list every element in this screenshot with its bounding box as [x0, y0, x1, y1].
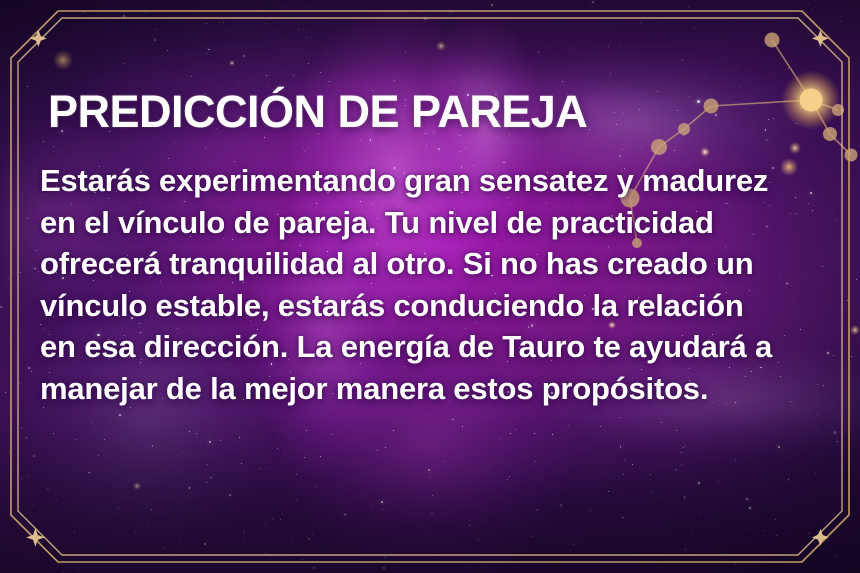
star-dot: [851, 356, 852, 357]
constellation-star: [832, 104, 844, 116]
star-dot: [676, 430, 677, 431]
star-dot: [210, 477, 212, 479]
star-dot: [629, 560, 630, 561]
star-dot: [312, 534, 313, 535]
star-dot: [145, 11, 147, 13]
star-dot: [694, 27, 695, 28]
star-dot: [104, 439, 105, 440]
star-dot: [536, 509, 538, 511]
star-dot: [113, 512, 114, 513]
star-dot: [718, 481, 719, 482]
star-dot: [18, 442, 19, 443]
horoscope-prediction-card: PREDICCIÓN DE PAREJA Estarás experimenta…: [0, 0, 860, 573]
star-dot: [491, 4, 493, 6]
star-dot: [453, 80, 454, 81]
star-dot: [500, 438, 502, 440]
star-dot: [28, 367, 30, 369]
star-dot: [448, 10, 449, 11]
star-dot: [126, 16, 127, 17]
star-dot: [244, 533, 245, 534]
star-dot: [662, 567, 663, 568]
star-dot: [681, 464, 682, 465]
star-dot: [259, 468, 260, 469]
glow-star: [53, 50, 73, 70]
star-dot: [371, 506, 372, 507]
star-dot: [97, 523, 98, 524]
star-dot: [438, 499, 439, 500]
star-dot: [296, 474, 297, 475]
star-dot: [152, 445, 154, 447]
star-dot: [748, 536, 749, 537]
star-dot: [317, 560, 318, 561]
star-dot: [282, 513, 283, 514]
star-dot: [21, 479, 22, 480]
star-dot: [155, 29, 156, 30]
star-dot: [452, 419, 454, 421]
star-dot: [178, 455, 179, 456]
star-dot: [167, 50, 168, 51]
star-dot: [834, 109, 836, 111]
star-dot: [220, 440, 221, 441]
star-dot: [486, 520, 487, 521]
star-dot: [47, 488, 49, 490]
star-dot: [808, 3, 809, 4]
star-dot: [856, 279, 857, 280]
star-dot: [534, 433, 535, 434]
star-dot: [11, 511, 12, 512]
star-dot: [329, 81, 330, 82]
star-dot: [75, 439, 76, 440]
star-dot: [842, 186, 843, 187]
star-dot: [27, 86, 28, 87]
star-dot: [243, 55, 245, 57]
star-dot: [302, 3, 303, 4]
star-dot: [284, 37, 285, 38]
star-dot: [624, 460, 625, 461]
star-dot: [302, 559, 303, 560]
star-dot: [507, 479, 508, 480]
star-dot: [298, 29, 299, 30]
star-dot: [196, 433, 197, 434]
star-dot: [620, 45, 621, 46]
star-dot: [573, 544, 574, 545]
star-dot: [562, 81, 563, 82]
star-dot: [835, 220, 836, 221]
prediction-body-line: en esa dirección. La energía de Tauro te…: [40, 329, 772, 364]
star-dot: [724, 553, 725, 554]
sparkle-bottom-left-icon: [26, 528, 45, 547]
star-dot: [600, 426, 601, 427]
star-dot: [533, 486, 535, 488]
star-dot: [119, 414, 121, 416]
star-dot: [826, 16, 827, 17]
star-dot: [684, 549, 686, 551]
star-dot: [238, 516, 239, 517]
star-dot: [5, 392, 6, 393]
star-dot: [280, 519, 281, 520]
star-dot: [320, 456, 321, 457]
star-dot: [749, 529, 750, 530]
star-dot: [272, 518, 274, 520]
star-dot: [848, 89, 849, 90]
star-dot: [26, 437, 27, 438]
star-dot: [840, 21, 841, 22]
star-dot: [610, 73, 611, 74]
star-dot: [698, 482, 700, 484]
star-dot: [776, 535, 777, 536]
star-dot: [208, 49, 210, 51]
star-dot: [209, 22, 210, 23]
star-dot: [31, 371, 32, 372]
star-dot: [53, 433, 54, 434]
star-dot: [619, 417, 620, 418]
star-dot: [817, 430, 818, 431]
glow-star: [436, 41, 446, 51]
star-dot: [478, 539, 479, 540]
star-dot: [469, 525, 470, 526]
glow-star: [133, 482, 141, 490]
star-dot: [814, 421, 815, 422]
star-dot: [385, 556, 387, 558]
star-dot: [254, 426, 255, 427]
star-dot: [189, 487, 191, 489]
star-dot: [675, 469, 677, 471]
star-dot: [735, 460, 736, 461]
constellation-edge: [830, 134, 851, 155]
glow-star: [850, 325, 860, 335]
star-dot: [608, 46, 609, 47]
star-dot: [681, 452, 682, 453]
star-dot: [243, 539, 244, 540]
star-dot: [19, 383, 20, 384]
star-dot: [640, 23, 641, 24]
star-dot: [848, 469, 849, 470]
star-dot: [308, 63, 309, 64]
star-dot: [790, 14, 791, 15]
star-dot: [735, 562, 737, 564]
star-dot: [563, 35, 564, 36]
star-dot: [269, 554, 271, 556]
prediction-body-line: en el vínculo de pareja. Tu nivel de pra…: [40, 205, 714, 240]
star-dot: [685, 445, 686, 446]
star-dot: [298, 15, 299, 16]
star-dot: [147, 524, 148, 525]
star-dot: [21, 58, 22, 59]
prediction-body-line: vínculo estable, estarás conduciendo la …: [40, 288, 744, 323]
star-dot: [381, 501, 383, 503]
star-dot: [394, 80, 395, 81]
star-dot: [684, 496, 686, 498]
star-dot: [778, 0, 779, 1]
glow-star: [229, 60, 235, 66]
star-dot: [699, 513, 700, 514]
prediction-body-line: Estarás experimentando gran sensatez y m…: [40, 163, 768, 198]
star-dot: [206, 482, 207, 483]
star-dot: [34, 268, 36, 270]
star-dot: [206, 23, 207, 24]
star-dot: [600, 17, 601, 18]
star-dot: [266, 75, 267, 76]
star-dot: [812, 29, 813, 30]
star-dot: [238, 84, 239, 85]
star-dot: [405, 52, 406, 53]
star-dot: [331, 434, 332, 435]
star-dot: [808, 27, 809, 28]
star-dot: [228, 555, 229, 556]
star-dot: [135, 532, 136, 533]
star-dot: [265, 23, 266, 24]
star-dot: [79, 568, 80, 569]
star-dot: [304, 457, 305, 458]
star-dot: [163, 547, 164, 548]
star-dot: [592, 1, 594, 3]
star-dot: [182, 549, 183, 550]
star-dot: [608, 19, 609, 20]
star-dot: [318, 561, 319, 562]
star-dot: [182, 452, 183, 453]
star-dot: [608, 491, 609, 492]
star-dot: [21, 427, 22, 428]
star-dot: [430, 505, 431, 506]
star-dot: [428, 469, 430, 471]
star-dot: [393, 430, 394, 431]
sparkle-top-right-icon: [812, 30, 829, 47]
star-dot: [154, 39, 156, 41]
sparkle-top-left-icon: [30, 30, 47, 47]
star-dot: [284, 454, 285, 455]
star-dot: [834, 431, 836, 433]
star-dot: [692, 534, 693, 535]
star-dot: [788, 68, 789, 69]
star-dot: [178, 558, 179, 559]
star-dot: [123, 63, 124, 64]
star-dot: [815, 473, 816, 474]
star-dot: [209, 441, 211, 443]
star-dot: [118, 507, 119, 508]
star-dot: [229, 494, 231, 496]
star-dot: [788, 479, 790, 481]
star-dot: [817, 414, 818, 415]
constellation-star: [765, 33, 780, 48]
star-dot: [234, 27, 235, 28]
star-dot: [509, 476, 510, 477]
star-dot: [32, 505, 33, 506]
star-dot: [622, 517, 624, 519]
star-dot: [832, 214, 833, 215]
star-dot: [296, 500, 297, 501]
star-dot: [273, 30, 274, 31]
star-dot: [206, 53, 207, 54]
star-dot: [444, 461, 445, 462]
star-dot: [20, 272, 21, 273]
star-dot: [532, 536, 533, 537]
star-dot: [688, 7, 689, 8]
star-dot: [306, 430, 307, 431]
star-dot: [320, 72, 321, 73]
star-dot: [151, 509, 152, 510]
star-dot: [93, 427, 94, 428]
star-dot: [383, 11, 384, 12]
star-dot: [325, 54, 326, 55]
star-dot: [658, 498, 659, 499]
star-dot: [11, 326, 12, 327]
star-dot: [377, 450, 378, 451]
star-dot: [91, 422, 92, 423]
star-dot: [649, 522, 650, 523]
star-dot: [438, 570, 439, 571]
star-dot: [9, 451, 10, 452]
star-dot: [241, 463, 242, 464]
star-dot: [338, 501, 339, 502]
star-dot: [613, 12, 614, 13]
star-dot: [702, 563, 703, 564]
star-dot: [432, 495, 433, 496]
star-dot: [383, 509, 384, 510]
star-dot: [36, 250, 37, 251]
star-dot: [207, 464, 208, 465]
star-dot: [833, 355, 834, 356]
star-dot: [429, 477, 430, 478]
star-dot: [179, 538, 180, 539]
star-dot: [308, 538, 310, 540]
star-dot: [189, 431, 190, 432]
star-dot: [307, 31, 308, 32]
star-dot: [293, 75, 294, 76]
star-dot: [763, 441, 764, 442]
star-dot: [383, 567, 385, 569]
star-dot: [477, 453, 478, 454]
star-dot: [279, 4, 280, 5]
star-dot: [831, 130, 832, 131]
star-dot: [277, 448, 278, 449]
star-dot: [117, 17, 118, 18]
star-dot: [840, 530, 841, 531]
star-dot: [121, 84, 122, 85]
star-dot: [266, 467, 267, 468]
star-dot: [590, 510, 591, 511]
star-dot: [462, 426, 463, 427]
star-dot: [56, 500, 57, 501]
star-dot: [516, 4, 517, 5]
star-dot: [764, 530, 765, 531]
star-dot: [98, 455, 99, 456]
star-dot: [847, 300, 848, 301]
star-dot: [191, 76, 192, 77]
star-dot: [746, 498, 748, 500]
star-dot: [535, 461, 536, 462]
star-dot: [8, 278, 9, 279]
star-dot: [259, 74, 260, 75]
star-dot: [620, 446, 622, 448]
star-dot: [510, 433, 511, 434]
star-dot: [778, 446, 780, 448]
sparkle-bottom-right-icon: [812, 529, 829, 546]
prediction-text-block: PREDICCIÓN DE PAREJA Estarás experimenta…: [40, 86, 830, 409]
star-dot: [88, 472, 90, 474]
star-dot: [27, 218, 28, 219]
star-dot: [560, 504, 562, 506]
star-dot: [402, 457, 403, 458]
star-dot: [661, 422, 662, 423]
star-dot: [775, 519, 776, 520]
star-dot: [34, 170, 35, 171]
star-dot: [552, 434, 553, 435]
star-dot: [749, 507, 751, 509]
star-dot: [623, 474, 624, 475]
star-dot: [434, 554, 435, 555]
star-dot: [704, 76, 705, 77]
star-dot: [808, 533, 809, 534]
star-dot: [288, 562, 290, 564]
prediction-body-line: manejar de la mejor manera estos propósi…: [40, 371, 708, 406]
star-dot: [738, 65, 739, 66]
star-dot: [632, 464, 633, 465]
star-dot: [811, 8, 812, 9]
star-dot: [451, 11, 453, 13]
star-dot: [385, 447, 386, 448]
star-dot: [315, 486, 317, 488]
page-title: PREDICCIÓN DE PAREJA: [40, 86, 830, 138]
star-dot: [204, 543, 206, 545]
star-dot: [219, 22, 220, 23]
star-dot: [77, 485, 78, 486]
star-dot: [306, 37, 307, 38]
star-dot: [0, 306, 2, 308]
star-dot: [223, 22, 224, 23]
prediction-body-text: Estarás experimentando gran sensatez y m…: [40, 138, 830, 409]
star-dot: [56, 428, 57, 429]
star-dot: [229, 561, 230, 562]
star-dot: [6, 565, 7, 566]
constellation-star: [845, 149, 858, 162]
star-dot: [33, 455, 35, 457]
star-dot: [835, 555, 837, 557]
star-dot: [640, 485, 641, 486]
star-dot: [239, 437, 240, 438]
star-dot: [84, 12, 85, 13]
star-dot: [683, 77, 684, 78]
star-dot: [89, 569, 90, 570]
star-dot: [819, 27, 820, 28]
star-dot: [63, 571, 64, 572]
star-dot: [123, 15, 125, 17]
star-dot: [313, 567, 315, 569]
star-dot: [489, 467, 491, 469]
star-dot: [568, 425, 569, 426]
star-dot: [682, 60, 683, 61]
star-dot: [28, 476, 30, 478]
star-dot: [538, 52, 539, 53]
star-dot: [74, 531, 75, 532]
star-dot: [344, 514, 346, 516]
star-dot: [416, 18, 417, 19]
star-dot: [837, 441, 839, 443]
star-dot: [837, 61, 838, 62]
star-dot: [286, 503, 288, 505]
star-dot: [424, 18, 426, 20]
star-dot: [651, 492, 652, 493]
star-dot: [650, 474, 651, 475]
prediction-body-line: ofrecerá tranquilidad al otro. Si no has…: [40, 246, 753, 281]
star-dot: [431, 513, 433, 515]
star-dot: [243, 531, 244, 532]
star-dot: [265, 553, 266, 554]
star-dot: [265, 523, 266, 524]
star-dot: [683, 447, 684, 448]
star-dot: [515, 429, 516, 430]
star-dot: [353, 507, 354, 508]
star-dot: [292, 538, 293, 539]
